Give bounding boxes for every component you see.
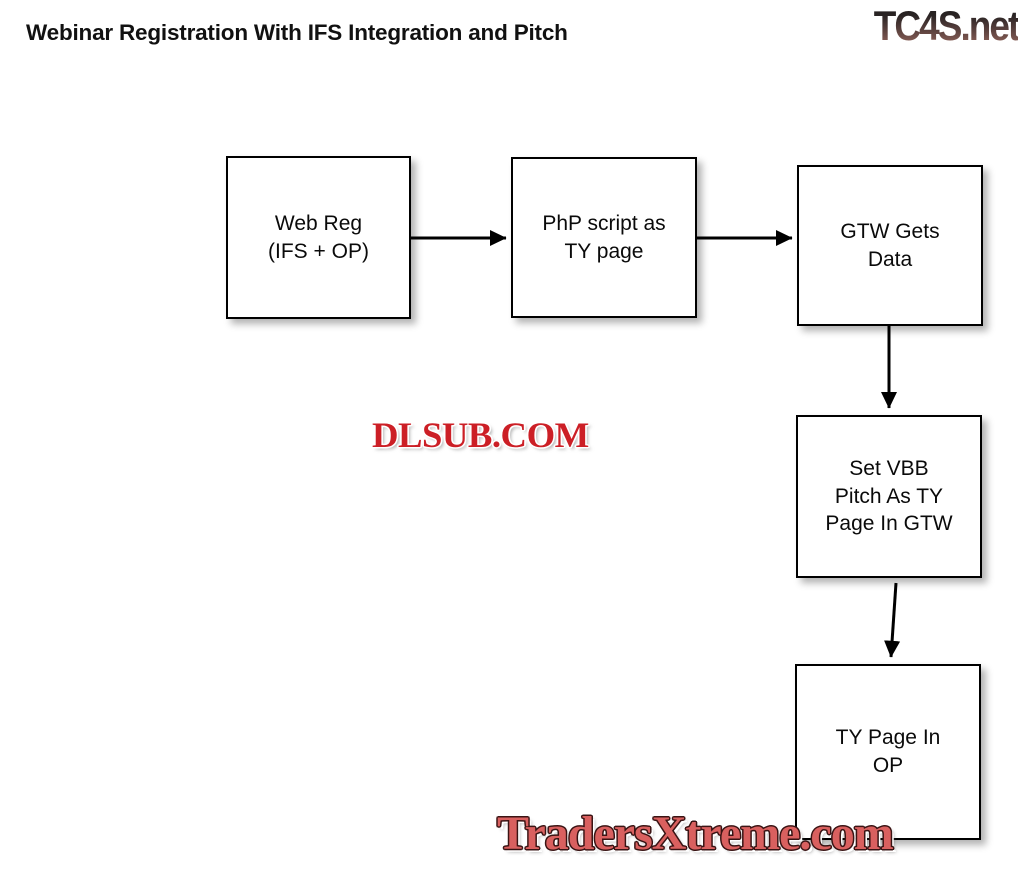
flow-arrow-set-vbb-to-ty-page-op [891,583,896,657]
flow-node-web-reg[interactable]: Web Reg (IFS + OP) [226,156,411,319]
flow-node-label: TY Page In OP [830,724,947,779]
watermark-tradersxtreme: TradersXtreme.com [497,806,893,861]
flow-node-label: PhP script as TY page [536,210,671,265]
flow-node-label: Set VBB Pitch As TY Page In GTW [819,455,958,538]
flow-node-label: Web Reg (IFS + OP) [262,210,375,265]
flow-node-gtw-gets-data[interactable]: GTW Gets Data [797,165,983,326]
flow-node-php-script[interactable]: PhP script as TY page [511,157,697,318]
flow-node-label: GTW Gets Data [834,218,945,273]
watermark-dlsub: DLSUB.COM [372,414,589,456]
flow-node-set-vbb-pitch[interactable]: Set VBB Pitch As TY Page In GTW [796,415,982,578]
